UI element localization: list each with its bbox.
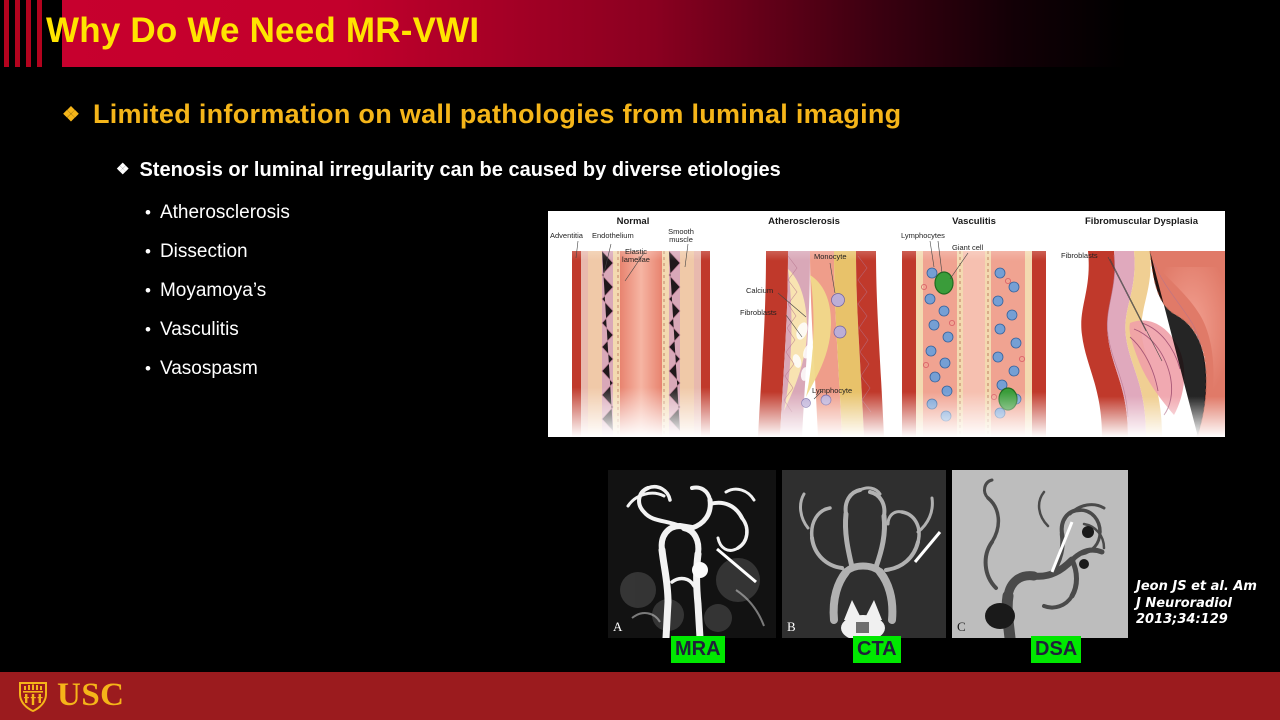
panel-title: Normal: [548, 216, 718, 227]
vessel-panel-atherosclerosis: Atherosclerosis Monocyte Calcium Fibrobl…: [718, 211, 890, 437]
angio-panel-letter: A: [613, 619, 622, 635]
citation-line-1: Jeon JS et al. Am: [1136, 579, 1276, 596]
decor-stripe: [15, 0, 20, 67]
secondary-bullet-label: Stenosis or luminal irregularity can be …: [139, 159, 780, 182]
dot-bullet-icon: •: [145, 282, 151, 299]
list-item: • Dissection: [145, 241, 290, 280]
panel-title: Vasculitis: [890, 216, 1058, 227]
list-item-label: Vasospasm: [160, 358, 258, 380]
decor-stripe: [37, 0, 42, 67]
usc-shield-icon: [16, 677, 50, 713]
normal-vessel-artwork: [548, 211, 718, 437]
panel-label-smooth-muscle: Smooth muscle: [661, 228, 701, 244]
panel-label-lymphocytes: Lymphocytes: [901, 232, 945, 240]
panel-title: Atherosclerosis: [718, 216, 890, 227]
decor-stripe: [26, 0, 31, 67]
panel-label-giant-cell: Giant cell: [952, 244, 983, 252]
diamond-bullet-icon: ❖: [116, 160, 129, 178]
dot-bullet-icon: •: [145, 204, 151, 221]
list-item-label: Vasculitis: [160, 319, 239, 341]
atherosclerosis-vessel-artwork: [718, 211, 890, 437]
panel-label-monocyte: Monocyte: [814, 253, 847, 261]
fmd-vessel-artwork: [1058, 211, 1225, 437]
list-item: • Moyamoya’s: [145, 280, 290, 319]
list-item-label: Atherosclerosis: [160, 202, 290, 224]
dot-bullet-icon: •: [145, 360, 151, 377]
vessel-wall-illustration: Normal Adventitia Endothelium Smooth mus…: [548, 211, 1225, 437]
angio-panel-letter: B: [787, 619, 796, 635]
panel-label-fibroblasts: Fibroblasts: [740, 309, 777, 317]
panel-label-adventitia: Adventitia: [550, 232, 583, 240]
list-item: • Vasculitis: [145, 319, 290, 358]
etiology-list: • Atherosclerosis • Dissection • Moyamoy…: [145, 202, 290, 397]
modality-tag-mra: MRA: [671, 636, 725, 663]
citation-line-3: 2013;34:129: [1136, 612, 1276, 629]
panel-label-elastic-lamellae: Elastic lamellae: [616, 248, 656, 264]
slide-title: Why Do We Need MR-VWI: [46, 11, 479, 51]
footer-bar: USC: [0, 672, 1280, 720]
list-item: • Atherosclerosis: [145, 202, 290, 241]
citation-line-2: J Neuroradiol: [1136, 596, 1276, 613]
angio-panel-cta: B: [782, 470, 946, 638]
angiography-figure: A: [608, 470, 1128, 638]
panel-label-endothelium: Endothelium: [592, 232, 634, 240]
diamond-bullet-icon: ❖: [62, 102, 80, 127]
panel-label-fibroblasts: Fibroblasts: [1061, 252, 1098, 260]
angio-panel-letter: C: [957, 619, 966, 635]
list-item-label: Moyamoya’s: [160, 280, 266, 302]
vessel-panel-vasculitis: Vasculitis Lymphocytes Giant cell: [890, 211, 1058, 437]
secondary-bullet: ❖ Stenosis or luminal irregularity can b…: [116, 159, 781, 182]
list-item-label: Dissection: [160, 241, 248, 263]
usc-logo: USC: [16, 677, 125, 713]
citation: Jeon JS et al. Am J Neuroradiol 2013;34:…: [1136, 579, 1276, 629]
decor-stripe: [4, 0, 9, 67]
panel-label-calcium: Calcium: [746, 287, 773, 295]
panel-label-lymphocyte: Lymphocyte: [812, 387, 852, 395]
dot-bullet-icon: •: [145, 243, 151, 260]
primary-bullet-label: Limited information on wall pathologies …: [93, 99, 902, 130]
modality-tag-cta: CTA: [853, 636, 901, 663]
dot-bullet-icon: •: [145, 321, 151, 338]
vessel-panel-normal: Normal Adventitia Endothelium Smooth mus…: [548, 211, 718, 437]
vessel-panel-fibromuscular-dysplasia: Fibromuscular Dysplasia Fibroblasts: [1058, 211, 1225, 437]
list-item: • Vasospasm: [145, 358, 290, 397]
angio-panel-mra: A: [608, 470, 776, 638]
usc-wordmark: USC: [57, 679, 125, 712]
mra-image: [608, 470, 776, 638]
cta-image: [782, 470, 946, 638]
primary-bullet: ❖ Limited information on wall pathologie…: [62, 99, 901, 130]
dsa-image: [952, 470, 1128, 638]
angio-panel-dsa: C: [952, 470, 1128, 638]
panel-title: Fibromuscular Dysplasia: [1058, 216, 1225, 227]
modality-tag-dsa: DSA: [1031, 636, 1081, 663]
